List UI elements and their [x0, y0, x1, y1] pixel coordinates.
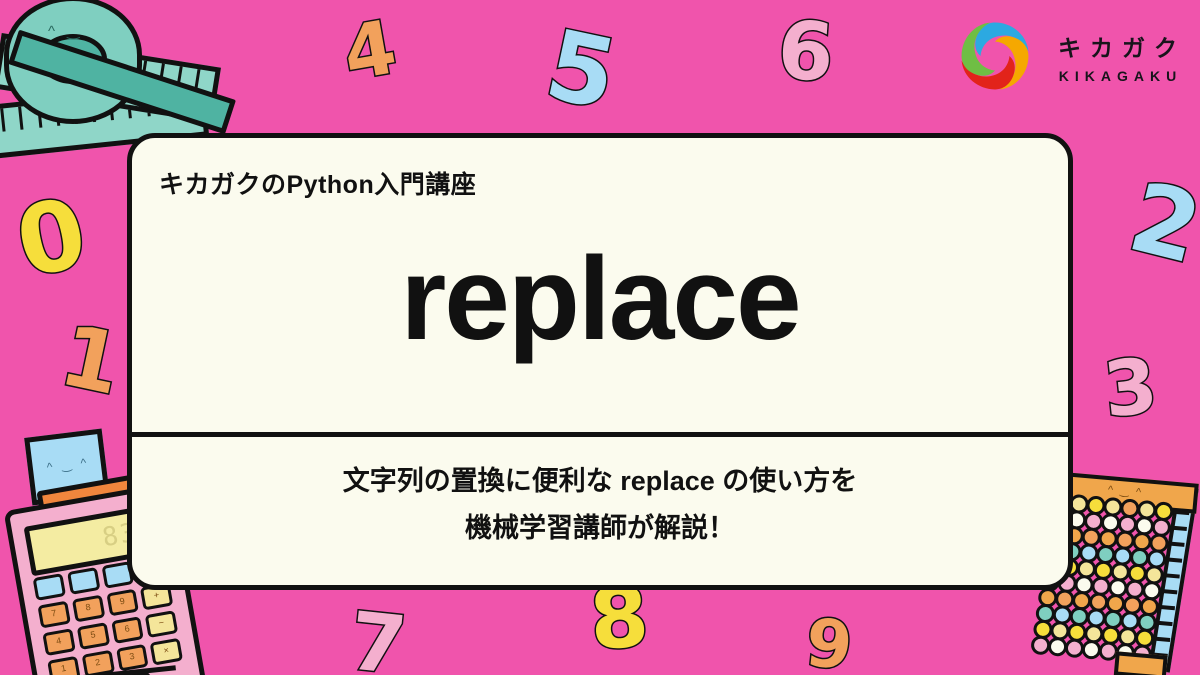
- content-card: キカガクのPython入門講座 replace 文字列の置換に便利な repla…: [127, 133, 1073, 590]
- description-line-2: 機械学習講師が解説！: [132, 505, 1068, 552]
- abacus-rods: [1055, 453, 1200, 467]
- description-line-1: 文字列の置換に便利な replace の使い方を: [132, 458, 1068, 505]
- calculator-key: 1: [47, 656, 80, 675]
- description: 文字列の置換に便利な replace の使い方を 機械学習講師が解説！: [132, 458, 1068, 553]
- kikagaku-logo: キカガク KIKAGAKU: [957, 18, 1186, 94]
- logo-name-jp: キカガク: [1049, 29, 1186, 63]
- decorative-number-7: 7: [346, 601, 410, 675]
- decorative-number-5: 5: [539, 16, 624, 124]
- slide-canvas: 0123456789 ^ ‿ ^ ^ ‿ ^ 837 789+456−123×0…: [0, 0, 1200, 675]
- course-subtitle: キカガクのPython入門講座: [159, 165, 476, 201]
- calculator-key: [33, 573, 66, 601]
- decorative-number-6: 6: [775, 10, 836, 94]
- calculator-key: 5: [77, 622, 110, 650]
- calculator-key: 8: [72, 595, 105, 623]
- calculator-key: 9: [106, 589, 139, 617]
- decorative-number-0: 0: [9, 184, 94, 292]
- decorative-number-2: 2: [1121, 168, 1200, 277]
- logo-wordmark: キカガク KIKAGAKU: [1049, 29, 1186, 84]
- abacus-base: [1114, 651, 1168, 675]
- calculator-key: 6: [111, 616, 144, 644]
- decorative-number-1: 1: [54, 313, 129, 407]
- calculator-key: ×: [150, 638, 183, 666]
- divider: [132, 432, 1068, 437]
- kikagaku-swirl-icon: [957, 18, 1033, 94]
- tape-face: ^ ‿ ^: [48, 22, 92, 40]
- calculator-key: 7: [37, 601, 70, 629]
- decorative-number-9: 9: [803, 610, 856, 675]
- calculator-key: [67, 567, 100, 595]
- calculator-key: −: [145, 610, 178, 638]
- calculator-key: 4: [42, 628, 75, 656]
- decorative-number-3: 3: [1100, 347, 1161, 428]
- calculator-key: 3: [116, 644, 149, 672]
- decorative-number-4: 4: [338, 10, 402, 92]
- logo-name-en: KIKAGAKU: [1053, 68, 1182, 84]
- page-title: replace: [132, 238, 1068, 362]
- receipt-face: ^ ‿ ^: [46, 455, 90, 474]
